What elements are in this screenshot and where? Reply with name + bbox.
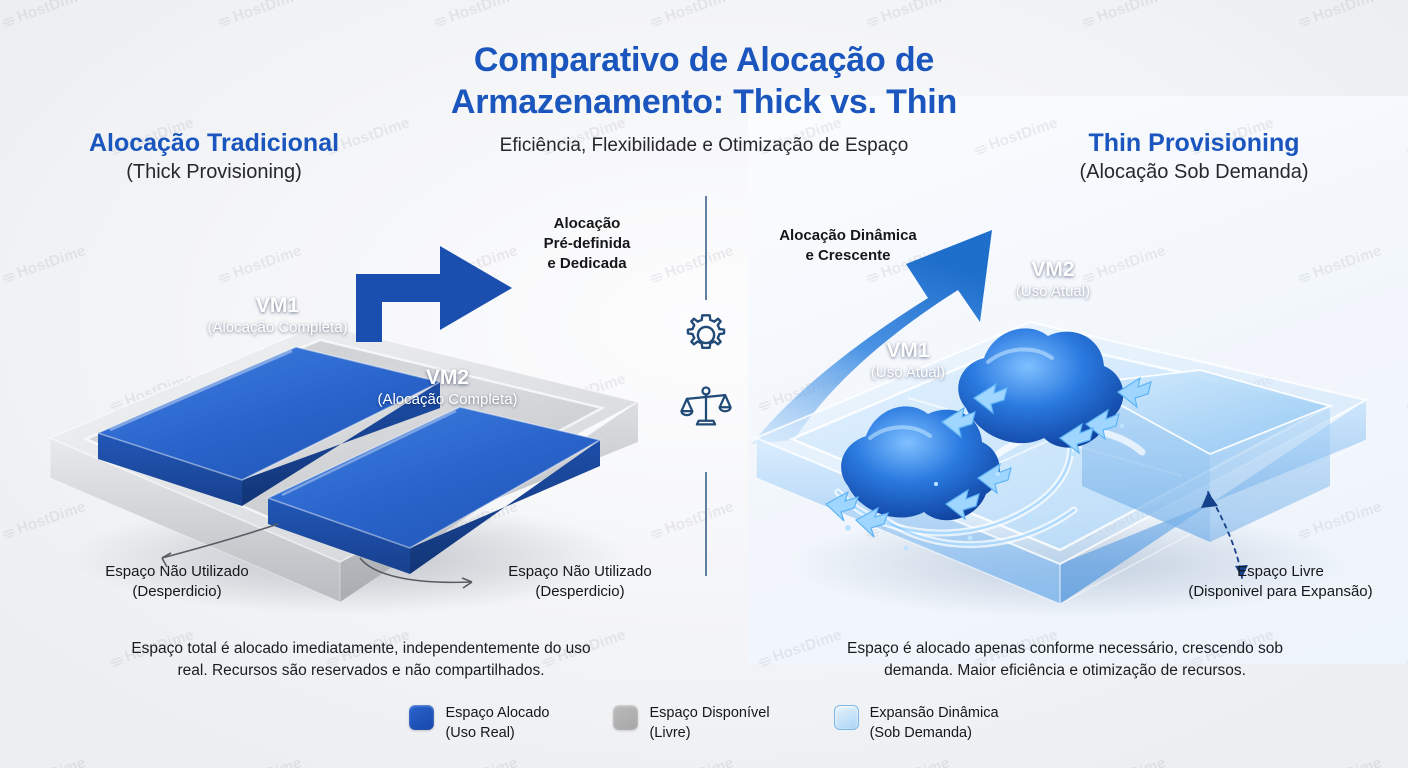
watermark-text: HostDime: [1095, 0, 1168, 26]
watermark-text: HostDime: [447, 0, 520, 26]
watermark-text: HostDime: [879, 0, 952, 26]
divider-line-bottom: [705, 472, 707, 576]
hostdime-logo-icon: [433, 15, 448, 28]
right-panel-heading: Thin Provisioning (Alocação Sob Demanda): [1024, 128, 1364, 185]
free-note-line-2: (Disponivel para Expansão): [1148, 582, 1408, 602]
watermark-text: HostDime: [663, 0, 736, 26]
watermark-text: HostDime: [879, 754, 952, 768]
watermark: HostDime: [216, 0, 304, 31]
left-panel-heading-main: Alocação Tradicional: [44, 128, 384, 158]
watermark: HostDime: [432, 754, 520, 768]
divider-line-top: [705, 196, 707, 300]
hostdime-logo-icon: [1, 271, 16, 284]
dynamic-growth-note: Alocação Dinâmica e Crescente: [752, 226, 944, 266]
legend-swatch-dynamic: [834, 705, 859, 730]
left-panel-heading-sub: (Thick Provisioning): [44, 159, 384, 185]
watermark-text: HostDime: [15, 0, 88, 26]
page-title: Comparativo de Alocação de Armazenamento…: [0, 40, 1408, 124]
legend-item: Espaço Disponível(Livre): [613, 703, 769, 743]
waste-right-line-2: (Desperdicio): [465, 582, 695, 602]
watermark: HostDime: [864, 0, 952, 31]
legend-label: Espaço Disponível(Livre): [649, 703, 769, 743]
hostdime-logo-icon: [649, 15, 664, 28]
hostdime-logo-icon: [1, 527, 16, 540]
watermark: HostDime: [216, 754, 304, 768]
arrow-note-line-3: e Dedicada: [512, 254, 662, 274]
right-panel-heading-sub: (Alocação Sob Demanda): [1024, 159, 1364, 185]
watermark: HostDime: [432, 0, 520, 31]
watermark: HostDime: [1296, 0, 1384, 31]
watermark-text: HostDime: [1311, 0, 1384, 26]
gear-icon: [679, 308, 733, 362]
legend-item: Expansão Dinâmica(Sob Demanda): [834, 703, 999, 743]
free-note-line-1: Espaço Livre: [1148, 562, 1408, 582]
balance-scale-icon: [679, 378, 733, 432]
watermark-text: HostDime: [231, 0, 304, 26]
left-panel-heading: Alocação Tradicional (Thick Provisioning…: [44, 128, 384, 185]
watermark: HostDime: [1080, 754, 1168, 768]
hostdime-logo-icon: [217, 15, 232, 28]
legend-label-line-2: (Uso Real): [445, 723, 549, 743]
legend-label-line-2: (Sob Demanda): [870, 723, 999, 743]
watermark: HostDime: [1080, 0, 1168, 31]
watermark: HostDime: [0, 754, 88, 768]
left-summary-line-2: real. Recursos são reservados e não comp…: [66, 660, 656, 682]
watermark-text: HostDime: [231, 754, 304, 768]
legend-item: Espaço Alocado(Uso Real): [409, 703, 549, 743]
infographic-canvas: HostDimeHostDimeHostDimeHostDimeHostDime…: [0, 0, 1408, 768]
watermark: HostDime: [0, 0, 88, 31]
left-panel-summary: Espaço total é alocado imediatamente, in…: [66, 638, 656, 682]
waste-left-line-1: Espaço Não Utilizado: [62, 562, 292, 582]
title-line-2: Armazenamento: Thick vs. Thin: [0, 82, 1408, 124]
right-summary-line-2: demanda. Maior eficiência e otimização d…: [770, 660, 1360, 682]
watermark: HostDime: [864, 754, 952, 768]
watermark-text: HostDime: [1311, 754, 1384, 768]
wasted-space-note-right: Espaço Não Utilizado (Desperdicio): [465, 562, 695, 602]
predefined-allocation-note: Alocação Pré-definida e Dedicada: [512, 214, 662, 273]
legend-label-line-1: Espaço Disponível: [649, 703, 769, 723]
right-panel-summary: Espaço é alocado apenas conforme necessá…: [770, 638, 1360, 682]
watermark: HostDime: [648, 0, 736, 31]
hostdime-logo-icon: [1081, 15, 1096, 28]
hostdime-logo-icon: [865, 15, 880, 28]
legend-label: Espaço Alocado(Uso Real): [445, 703, 549, 743]
panel-divider: [705, 196, 707, 576]
legend-swatch-allocated: [409, 705, 434, 730]
legend-label-line-1: Expansão Dinâmica: [870, 703, 999, 723]
legend-swatch-available: [613, 705, 638, 730]
arrow-note-line-2: Pré-definida: [512, 234, 662, 254]
hostdime-logo-icon: [1297, 15, 1312, 28]
title-line-1: Comparativo de Alocação de: [0, 40, 1408, 82]
legend-label-line-1: Espaço Alocado: [445, 703, 549, 723]
dynamic-note-line-2: e Crescente: [752, 246, 944, 266]
waste-right-line-1: Espaço Não Utilizado: [465, 562, 695, 582]
legend: Espaço Alocado(Uso Real)Espaço Disponíve…: [0, 703, 1408, 743]
watermark: HostDime: [648, 754, 736, 768]
free-space-note: Espaço Livre (Disponivel para Expansão): [1148, 562, 1408, 602]
legend-label: Expansão Dinâmica(Sob Demanda): [870, 703, 999, 743]
watermark-text: HostDime: [1095, 754, 1168, 768]
watermark: HostDime: [1296, 754, 1384, 768]
arrow-note-line-1: Alocação: [512, 214, 662, 234]
watermark-text: HostDime: [15, 754, 88, 768]
dynamic-note-line-1: Alocação Dinâmica: [752, 226, 944, 246]
waste-left-line-2: (Desperdicio): [62, 582, 292, 602]
right-summary-line-1: Espaço é alocado apenas conforme necessá…: [770, 638, 1360, 660]
watermark-text: HostDime: [447, 754, 520, 768]
predefined-allocation-arrow: [356, 246, 512, 342]
hostdime-logo-icon: [1, 15, 16, 28]
right-panel-heading-main: Thin Provisioning: [1024, 128, 1364, 158]
watermark-text: HostDime: [663, 754, 736, 768]
left-summary-line-1: Espaço total é alocado imediatamente, in…: [66, 638, 656, 660]
wasted-space-note-left: Espaço Não Utilizado (Desperdicio): [62, 562, 292, 602]
legend-label-line-2: (Livre): [649, 723, 769, 743]
